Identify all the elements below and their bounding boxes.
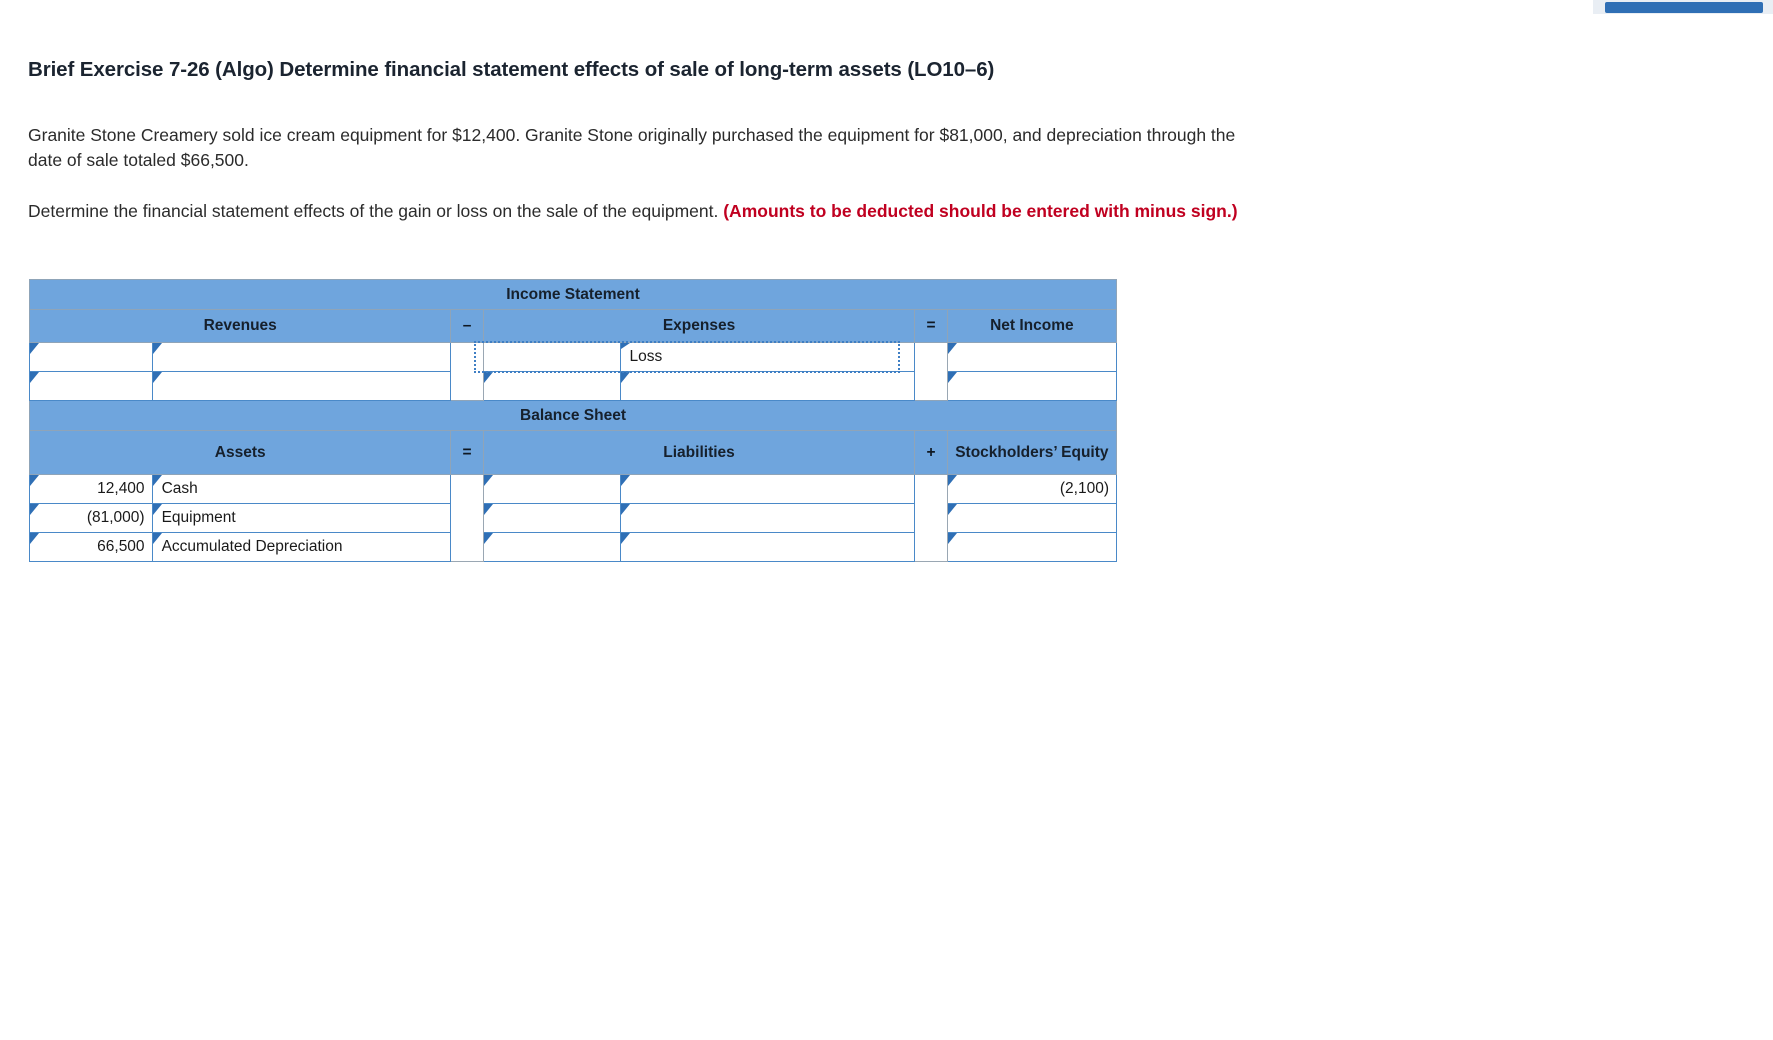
asset-amount-input[interactable]: 66,500 <box>30 533 153 562</box>
instruction-emphasis: (Amounts to be deducted should be entere… <box>723 201 1237 221</box>
balance-sheet-row: (81,000) Equipment <box>30 504 1117 533</box>
cell-marker-icon <box>153 343 162 354</box>
cell-marker-icon <box>948 533 957 544</box>
expense-label-input[interactable]: Loss <box>620 343 915 372</box>
operator-spacer <box>451 372 483 401</box>
revenue-amount-input[interactable] <box>30 372 153 401</box>
cell-marker-icon <box>948 504 957 515</box>
liability-label-input[interactable] <box>620 504 915 533</box>
operator-spacer <box>915 372 947 401</box>
equity-amount-input[interactable]: (2,100) <box>947 475 1116 504</box>
expense-amount-input[interactable] <box>483 372 620 401</box>
asset-label-input[interactable]: Equipment <box>152 504 451 533</box>
cell-marker-icon <box>948 372 957 383</box>
balance-sheet-band-row: Balance Sheet <box>30 401 1117 431</box>
asset-label-input[interactable]: Accumulated Depreciation <box>152 533 451 562</box>
column-header-net-income: Net Income <box>947 310 1116 343</box>
cell-marker-icon <box>484 475 493 486</box>
asset-amount-input[interactable]: 12,400 <box>30 475 153 504</box>
income-statement-band: Income Statement <box>30 280 1117 310</box>
instruction-text: Determine the financial statement effect… <box>28 201 723 221</box>
column-header-assets: Assets <box>30 431 451 475</box>
balance-sheet-header-row: Assets = Liabilities + Stockholders’ Equ… <box>30 431 1117 475</box>
liability-label-input[interactable] <box>620 475 915 504</box>
problem-statement-paragraph: Granite Stone Creamery sold ice cream eq… <box>28 83 1243 175</box>
liability-amount-input[interactable] <box>483 475 620 504</box>
page-title: Brief Exercise 7-26 (Algo) Determine fin… <box>28 0 1528 83</box>
column-header-expenses: Expenses <box>483 310 915 343</box>
column-header-revenues: Revenues <box>30 310 451 343</box>
cell-marker-icon <box>30 343 39 354</box>
page-root: Brief Exercise 7-26 (Algo) Determine fin… <box>0 0 1773 1040</box>
net-income-input[interactable] <box>947 372 1116 401</box>
cell-marker-icon <box>484 372 493 383</box>
cell-marker-icon <box>621 372 630 383</box>
cell-marker-icon <box>30 372 39 383</box>
revenue-amount-input[interactable] <box>30 343 153 372</box>
equity-amount-input[interactable] <box>947 533 1116 562</box>
operator-spacer <box>451 504 483 533</box>
cell-marker-icon <box>621 533 630 544</box>
cell-marker-icon <box>484 533 493 544</box>
balance-sheet-row: 66,500 Accumulated Depreciation <box>30 533 1117 562</box>
column-header-liabilities: Liabilities <box>483 431 915 475</box>
toolbar-button[interactable] <box>1605 2 1763 13</box>
top-right-toolbar-fragment <box>1593 0 1773 14</box>
liability-label-input[interactable] <box>620 533 915 562</box>
income-statement-row: Loss <box>30 343 1117 372</box>
instruction-paragraph: Determine the financial statement effect… <box>28 174 1243 225</box>
operator-spacer <box>451 475 483 504</box>
operator-spacer <box>915 343 947 372</box>
liability-amount-input[interactable] <box>483 533 620 562</box>
income-statement-band-row: Income Statement <box>30 280 1117 310</box>
operator-spacer <box>451 533 483 562</box>
revenue-label-input[interactable] <box>152 343 451 372</box>
liability-amount-input[interactable] <box>483 504 620 533</box>
asset-amount-input[interactable]: (81,000) <box>30 504 153 533</box>
cell-marker-icon <box>621 475 630 486</box>
asset-label-input[interactable]: Cash <box>152 475 451 504</box>
financial-effects-worksheet: Income Statement Revenues – Expenses = N… <box>29 279 1117 562</box>
operator-spacer <box>915 533 947 562</box>
cell-marker-icon <box>948 343 957 354</box>
operator-equals-income: = <box>915 310 947 343</box>
operator-equals-balance: = <box>451 431 483 475</box>
cell-marker-icon <box>484 504 493 515</box>
operator-spacer <box>451 343 483 372</box>
operator-plus: + <box>915 431 947 475</box>
income-statement-row <box>30 372 1117 401</box>
equity-amount-input[interactable] <box>947 504 1116 533</box>
expense-amount-input[interactable] <box>483 343 620 372</box>
cell-marker-icon <box>621 504 630 515</box>
net-income-input[interactable] <box>947 343 1116 372</box>
column-header-stockholders-equity: Stockholders’ Equity <box>947 431 1116 475</box>
operator-spacer <box>915 504 947 533</box>
operator-minus: – <box>451 310 483 343</box>
revenue-label-input[interactable] <box>152 372 451 401</box>
operator-spacer <box>915 475 947 504</box>
balance-sheet-row: 12,400 Cash (2,100) <box>30 475 1117 504</box>
cell-marker-icon <box>153 372 162 383</box>
exercise-content: Brief Exercise 7-26 (Algo) Determine fin… <box>28 0 1528 225</box>
balance-sheet-band: Balance Sheet <box>30 401 1117 431</box>
expense-label-input[interactable] <box>620 372 915 401</box>
income-statement-header-row: Revenues – Expenses = Net Income <box>30 310 1117 343</box>
